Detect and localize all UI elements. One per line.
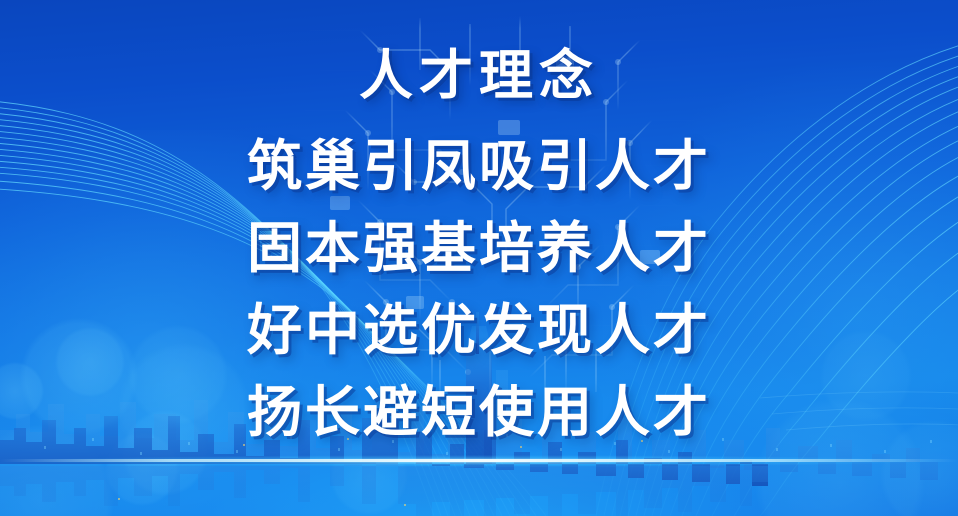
background-glow-right xyxy=(598,60,958,516)
poster-canvas: 人才理念 筑巢引凤吸引人才 固本强基培养人才 好中选优发现人才 扬长避短使用人才 xyxy=(0,0,958,516)
horizon-light-core xyxy=(0,459,958,462)
